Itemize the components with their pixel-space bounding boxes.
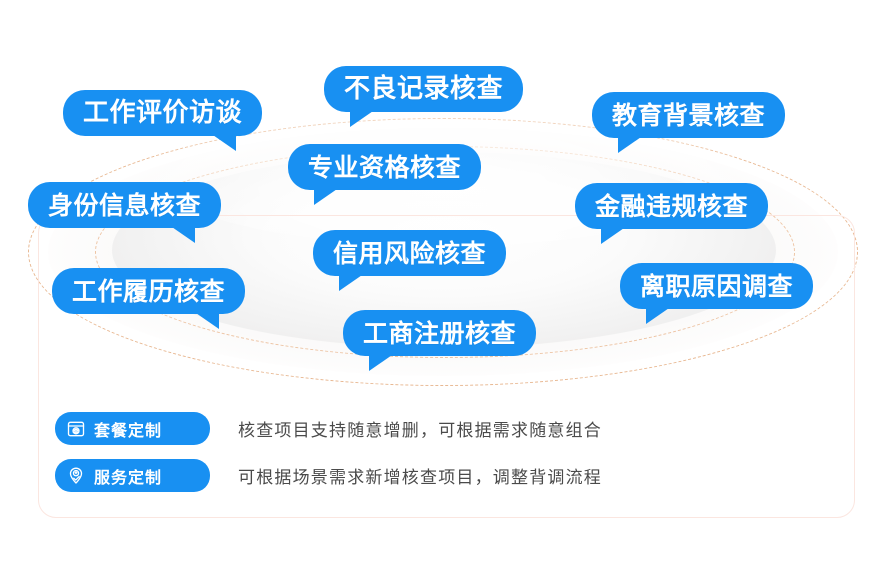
window-card-icon xyxy=(66,419,86,439)
infographic-stage: 不良记录核查工作评价访谈教育背景核查专业资格核查身份信息核查金融违规核查信用风险… xyxy=(0,0,885,580)
bubble-education-check[interactable]: 教育背景核查 xyxy=(592,92,785,138)
feature-description: 核查项目支持随意增删，可根据需求随意组合 xyxy=(238,416,602,441)
chip-label: 服务定制 xyxy=(94,464,162,488)
bubble-bad-record-check[interactable]: 不良记录核查 xyxy=(324,66,523,112)
bubble-work-evaluation[interactable]: 工作评价访谈 xyxy=(63,90,262,136)
chip-label: 套餐定制 xyxy=(94,417,162,441)
chip-package-customization[interactable]: 套餐定制 xyxy=(55,412,210,445)
bubble-identity-check[interactable]: 身份信息核查 xyxy=(28,182,221,228)
bubble-resignation-reason[interactable]: 离职原因调查 xyxy=(620,263,813,309)
location-person-check-icon xyxy=(66,466,86,486)
bubble-finance-violation[interactable]: 金融违规核查 xyxy=(575,183,768,229)
bubble-qualification-check[interactable]: 专业资格核查 xyxy=(288,144,481,190)
chip-service-customization[interactable]: 服务定制 xyxy=(55,459,210,492)
feature-row-list: 套餐定制核查项目支持随意增删，可根据需求随意组合服务定制可根据场景需求新增核查项… xyxy=(55,412,602,492)
bubble-business-registration[interactable]: 工商注册核查 xyxy=(343,310,536,356)
bubble-credit-risk-check[interactable]: 信用风险核查 xyxy=(313,230,506,276)
feature-row-package-customization: 套餐定制核查项目支持随意增删，可根据需求随意组合 xyxy=(55,412,602,445)
bubble-work-history-check[interactable]: 工作履历核查 xyxy=(52,268,245,314)
feature-description: 可根据场景需求新增核查项目，调整背调流程 xyxy=(238,463,602,488)
feature-row-service-customization: 服务定制可根据场景需求新增核查项目，调整背调流程 xyxy=(55,459,602,492)
